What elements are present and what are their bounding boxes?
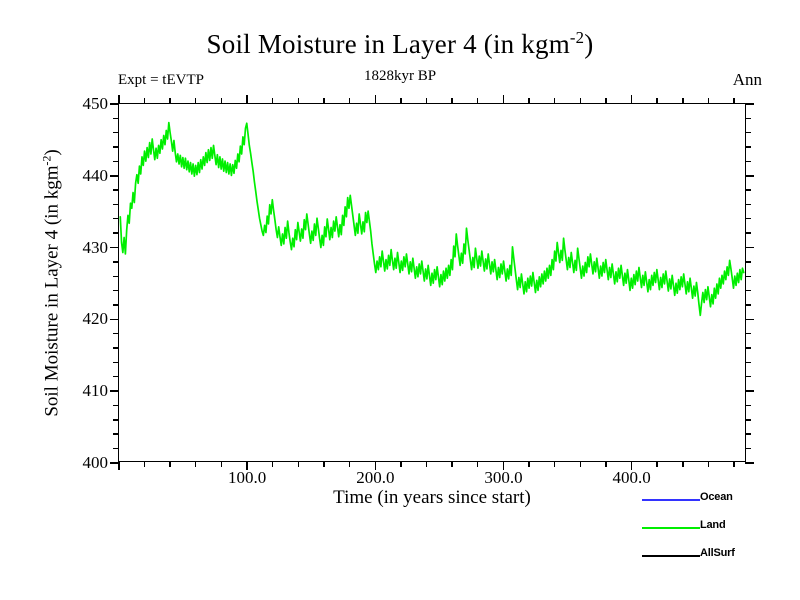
y-axis-tick (745, 261, 751, 262)
x-axis-tick (528, 461, 529, 467)
x-axis-tick (477, 461, 478, 467)
x-axis-tick (605, 461, 606, 467)
y-axis-tick (745, 218, 751, 219)
y-axis-tick (113, 118, 119, 119)
y-axis-tick (113, 161, 119, 162)
y-axis-tick (113, 333, 119, 334)
x-axis-tick (656, 98, 657, 104)
x-tick-label: 400.0 (613, 468, 651, 488)
x-axis-tick (477, 98, 478, 104)
legend: OceanLandAllSurf (642, 487, 792, 571)
y-axis-tick (113, 218, 119, 219)
x-axis-tick (195, 98, 196, 104)
y-axis-tick (745, 103, 754, 105)
chart-title-exponent: -2 (570, 28, 584, 47)
x-axis-tick (580, 461, 581, 467)
x-axis-tick (400, 461, 401, 467)
y-axis-tick (113, 304, 119, 305)
legend-label: Ocean (700, 491, 733, 503)
x-axis-tick (349, 98, 350, 104)
chart-title-tail: ) (584, 29, 593, 59)
x-tick-label: 100.0 (228, 468, 266, 488)
legend-swatch-icon (642, 555, 700, 557)
y-axis-tick (745, 347, 751, 348)
y-axis-tick (113, 362, 119, 363)
x-axis-tick (733, 98, 734, 104)
y-axis-title-exponent: -2 (40, 156, 53, 166)
x-axis-tick (118, 95, 120, 104)
y-axis-tick (113, 290, 119, 291)
plot-area: 400410420430440450 100.0200.0300.0400.0 (118, 103, 746, 462)
x-axis-tick (221, 98, 222, 104)
x-axis-tick (298, 98, 299, 104)
x-axis-tick (221, 461, 222, 467)
x-axis-tick (375, 95, 377, 104)
averaging-label: Ann (733, 70, 762, 90)
y-axis-tick (745, 204, 751, 205)
chart-page: Soil Moisture in Layer 4 (in kgm-2) Expt… (0, 0, 800, 600)
legend-label: Land (700, 519, 725, 531)
legend-item[interactable]: Ocean (642, 487, 792, 515)
y-axis-tick (745, 448, 751, 449)
y-tick-label: 440 (83, 166, 109, 186)
x-axis-tick (246, 95, 248, 104)
legend-item[interactable]: AllSurf (642, 543, 792, 571)
y-axis-tick (745, 132, 751, 133)
y-axis-tick (745, 232, 751, 233)
y-axis-tick (745, 146, 751, 147)
x-axis-tick (503, 95, 505, 104)
y-axis-tick (745, 189, 751, 190)
x-tick-label: 300.0 (484, 468, 522, 488)
y-axis-tick (110, 390, 119, 392)
x-axis-tick (631, 95, 633, 104)
y-axis-tick (745, 376, 751, 377)
series-clip (119, 104, 745, 461)
x-axis-tick (682, 461, 683, 467)
legend-label: AllSurf (700, 547, 735, 559)
y-tick-label: 410 (83, 381, 109, 401)
x-axis-tick (554, 98, 555, 104)
x-axis-tick (272, 98, 273, 104)
y-axis-tick (113, 405, 119, 406)
y-axis-tick (113, 376, 119, 377)
x-axis-tick (708, 461, 709, 467)
y-axis-tick (745, 247, 754, 249)
y-axis-tick (745, 405, 751, 406)
y-axis-tick (113, 448, 119, 449)
y-axis-tick (745, 161, 751, 162)
y-axis-tick (745, 175, 754, 177)
legend-swatch-icon (642, 499, 700, 501)
page-title: Soil Moisture in Layer 4 (in kgm-2) (0, 28, 800, 60)
x-axis-tick (195, 461, 196, 467)
y-tick-label: 400 (83, 453, 109, 473)
y-tick-label: 430 (83, 238, 109, 258)
y-axis-title-tail: ) (42, 149, 63, 155)
y-axis-tick (113, 433, 119, 434)
x-axis-tick (554, 461, 555, 467)
x-tick-label: 200.0 (356, 468, 394, 488)
y-axis-tick (113, 276, 119, 277)
x-axis-tick (144, 98, 145, 104)
x-axis-tick (682, 98, 683, 104)
x-axis-tick (169, 461, 170, 467)
x-axis-tick (656, 461, 657, 467)
x-axis-tick (708, 98, 709, 104)
x-axis-tick (298, 461, 299, 467)
y-axis-title-text: Soil Moisture in Layer 4 (in kgm (42, 165, 63, 416)
legend-swatch-icon (642, 527, 700, 529)
y-axis-title: Soil Moisture in Layer 4 (in kgm-2) (40, 149, 63, 416)
y-axis-tick (745, 419, 751, 420)
x-axis-tick (400, 98, 401, 104)
y-axis-tick (113, 232, 119, 233)
y-axis-tick (745, 333, 751, 334)
land-series-line (119, 104, 745, 461)
y-axis-tick (113, 146, 119, 147)
y-axis-tick (113, 261, 119, 262)
y-axis-tick (745, 304, 751, 305)
x-axis-tick (323, 461, 324, 467)
y-axis-tick (745, 319, 754, 321)
y-axis-tick (113, 347, 119, 348)
y-axis-tick (745, 390, 754, 392)
x-axis-tick (528, 98, 529, 104)
x-axis-tick (451, 461, 452, 467)
y-axis-tick (745, 462, 754, 464)
y-axis-tick (110, 175, 119, 177)
y-axis-tick (745, 362, 751, 363)
x-axis-tick (426, 461, 427, 467)
x-axis-tick (323, 98, 324, 104)
y-axis-tick (113, 132, 119, 133)
y-axis-tick (113, 204, 119, 205)
x-axis-tick (272, 461, 273, 467)
y-axis-tick (745, 118, 751, 119)
y-axis-tick (113, 189, 119, 190)
y-tick-label: 420 (83, 309, 109, 329)
x-axis-tick (118, 461, 120, 470)
y-axis-tick (745, 290, 751, 291)
y-axis-tick (745, 433, 751, 434)
x-axis-tick (426, 98, 427, 104)
y-axis-tick (110, 247, 119, 249)
y-axis-tick (110, 319, 119, 321)
x-axis-tick (169, 98, 170, 104)
x-axis-tick (144, 461, 145, 467)
legend-item[interactable]: Land (642, 515, 792, 543)
x-axis-tick (580, 98, 581, 104)
x-axis-tick (733, 461, 734, 467)
x-axis-tick (349, 461, 350, 467)
chart-title-text: Soil Moisture in Layer 4 (in kgm (207, 29, 570, 59)
x-axis-tick (605, 98, 606, 104)
y-tick-label: 450 (83, 94, 109, 114)
x-axis-tick (451, 98, 452, 104)
y-axis-tick (113, 419, 119, 420)
y-axis-tick (745, 276, 751, 277)
period-label: 1828kyr BP (0, 68, 800, 85)
